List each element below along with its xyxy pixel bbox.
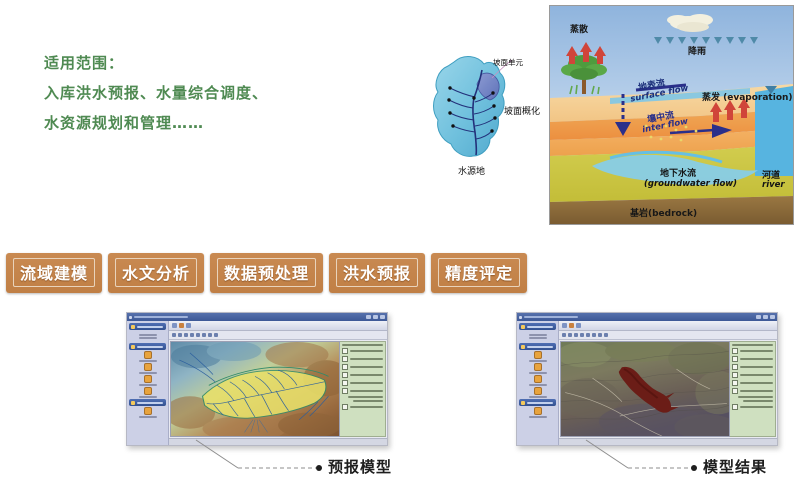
layer-label [350, 358, 383, 360]
legend-row[interactable] [342, 348, 383, 354]
group-icon [521, 345, 525, 349]
map-canvas-terrain[interactable] [170, 341, 340, 437]
sidebar-item[interactable] [129, 331, 166, 342]
item-label [529, 334, 547, 336]
module-button-hydrologic-analysis[interactable]: 水文分析 [108, 253, 204, 293]
window-title-text [134, 316, 188, 318]
legend-row[interactable] [732, 388, 773, 394]
tool-icon [144, 387, 152, 395]
layer-checkbox[interactable] [732, 364, 738, 370]
layer-checkbox[interactable] [342, 372, 348, 378]
terrain-map-svg [171, 342, 339, 436]
sidebar-item[interactable] [519, 387, 556, 398]
layer-checkbox[interactable] [342, 404, 348, 410]
legend-row[interactable] [732, 404, 773, 410]
item-label [139, 396, 157, 398]
tool-bar[interactable] [169, 331, 387, 340]
module-button-flood-forecast[interactable]: 洪水预报 [329, 253, 425, 293]
label-groundwater-flow-cn: 地下水流 [660, 166, 696, 179]
group-icon [131, 325, 135, 329]
label-evapotranspiration: 蒸散 [570, 22, 588, 35]
sidebar-group-header-1[interactable] [519, 323, 556, 330]
toolbar-icon[interactable] [580, 333, 584, 337]
legend-subrow[interactable] [732, 400, 773, 402]
legend-row[interactable] [342, 364, 383, 370]
menu-item[interactable] [562, 323, 567, 328]
module-button-accuracy-assessment[interactable]: 精度评定 [431, 253, 527, 293]
legend-row[interactable] [342, 380, 383, 386]
module-label: 数据预处理 [217, 258, 316, 287]
module-button-watershed-modeling[interactable]: 流域建模 [6, 253, 102, 293]
tool-icon [144, 407, 152, 415]
intro-line-2: 入库洪水预报、水量综合调度、 [44, 78, 374, 108]
legend-row[interactable] [342, 388, 383, 394]
sidebar-group-header-2[interactable] [129, 343, 166, 350]
window-body [127, 321, 387, 445]
layer-checkbox[interactable] [732, 372, 738, 378]
toolbar-icon[interactable] [178, 333, 182, 337]
toolbar-icon[interactable] [574, 333, 578, 337]
menu-item[interactable] [172, 323, 177, 328]
window-title-text [524, 316, 578, 318]
legend-row[interactable] [342, 356, 383, 362]
item-label [139, 372, 157, 374]
maximize-button[interactable] [373, 315, 378, 319]
sidebar-item[interactable] [519, 363, 556, 374]
legend-header [732, 344, 773, 346]
sidebar-group-header-3[interactable] [519, 399, 556, 406]
item-label [529, 384, 547, 386]
layer-label [740, 382, 773, 384]
sidebar-item[interactable] [519, 375, 556, 386]
tool-icon [534, 387, 542, 395]
layer-label [740, 350, 773, 352]
toolbar-icon[interactable] [196, 333, 200, 337]
legend-subrow[interactable] [342, 400, 383, 402]
slide-canvas: 适用范围： 入库洪水预报、水量综合调度、 水资源规划和管理…… [0, 0, 794, 499]
status-bar [559, 438, 777, 445]
label-slope-unit: 坡面单元 [493, 57, 523, 68]
window-body [517, 321, 777, 445]
layer-checkbox[interactable] [732, 404, 738, 410]
label-river-en: river [762, 180, 785, 190]
menu-item[interactable] [576, 323, 581, 328]
layer-label [740, 366, 773, 368]
group-label [527, 346, 553, 348]
window-title-bar [517, 313, 777, 321]
layer-label [740, 358, 773, 360]
toolbar-icon[interactable] [592, 333, 596, 337]
sidebar-filler [519, 419, 556, 445]
toolbar-icon[interactable] [562, 333, 566, 337]
label-slope-generalization: 坡面概化 [504, 104, 540, 117]
menu-bar[interactable] [169, 321, 387, 331]
toolbar-icon[interactable] [586, 333, 590, 337]
sidebar-group-header-3[interactable] [129, 399, 166, 406]
layer-label [350, 350, 383, 352]
layer-checkbox[interactable] [342, 380, 348, 386]
label-water-source: 水源地 [458, 164, 485, 177]
toolbar-icon[interactable] [190, 333, 194, 337]
label-rainfall: 降雨 [688, 44, 706, 57]
applicable-scope-text: 适用范围： 入库洪水预报、水量综合调度、 水资源规划和管理…… [44, 48, 374, 138]
tool-icon [144, 351, 152, 359]
toolbar-icon[interactable] [214, 333, 218, 337]
legend-row[interactable] [342, 404, 383, 410]
intro-line-3: 水资源规划和管理…… [44, 108, 374, 138]
module-button-data-preprocessing[interactable]: 数据预处理 [210, 253, 323, 293]
map-and-legend [559, 340, 777, 438]
legend-row[interactable] [732, 364, 773, 370]
layer-sublabel [738, 396, 773, 398]
sidebar-item[interactable] [129, 363, 166, 374]
sidebar-item[interactable] [129, 375, 166, 386]
screenshot-model-results[interactable] [516, 312, 778, 446]
menu-bar[interactable] [559, 321, 777, 331]
sidebar-item[interactable] [129, 407, 166, 418]
group-label [527, 402, 553, 404]
toolbar-icon[interactable] [598, 333, 602, 337]
item-label [139, 334, 157, 336]
sidebar-group-header-1[interactable] [129, 323, 166, 330]
layer-label [350, 374, 383, 376]
satellite-map-svg [561, 342, 729, 436]
item-label [529, 360, 547, 362]
minimize-button[interactable] [366, 315, 371, 319]
group-label [527, 326, 553, 328]
module-label: 流域建模 [13, 258, 95, 287]
app-icon [129, 316, 132, 319]
layer-legend-panel[interactable] [730, 341, 776, 437]
module-label: 精度评定 [438, 258, 520, 287]
layer-sublabel [348, 396, 383, 398]
tool-icon [534, 375, 542, 383]
menu-item[interactable] [569, 323, 574, 328]
sidebar-item[interactable] [129, 351, 166, 362]
item-label [139, 416, 157, 418]
group-icon [521, 401, 525, 405]
layer-checkbox[interactable] [342, 388, 348, 394]
caption-model-results: 模型结果 [703, 456, 767, 477]
group-icon [131, 345, 135, 349]
layer-label [740, 374, 773, 376]
layer-sublabel [743, 400, 773, 402]
rainfall-arrows [654, 37, 758, 44]
label-groundwater-flow-en: (groundwater flow) [644, 179, 737, 189]
layer-checkbox[interactable] [342, 364, 348, 370]
layer-label [350, 382, 383, 384]
main-area [169, 321, 387, 445]
item-sublabel [529, 337, 547, 339]
map-canvas-satellite[interactable] [560, 341, 730, 437]
status-bar [169, 438, 387, 445]
layer-label [350, 406, 383, 408]
legend-subrow[interactable] [732, 396, 773, 398]
legend-row[interactable] [732, 348, 773, 354]
module-label: 洪水预报 [336, 258, 418, 287]
item-label [139, 384, 157, 386]
group-label [137, 326, 163, 328]
minimize-button[interactable] [756, 315, 761, 319]
layer-label [350, 366, 383, 368]
layer-checkbox[interactable] [732, 388, 738, 394]
legend-subrow[interactable] [342, 396, 383, 398]
item-label [139, 360, 157, 362]
legend-row[interactable] [342, 372, 383, 378]
tool-bar[interactable] [559, 331, 777, 340]
tool-icon [144, 363, 152, 371]
group-label [137, 346, 163, 348]
tool-icon [534, 407, 542, 415]
legend-row[interactable] [732, 380, 773, 386]
app-icon [519, 316, 522, 319]
layer-checkbox[interactable] [342, 356, 348, 362]
label-evaporation: 蒸发 (evaporation) [702, 90, 793, 103]
layer-label [740, 390, 773, 392]
group-icon [521, 325, 525, 329]
layer-checkbox[interactable] [732, 380, 738, 386]
layer-sublabel [353, 400, 383, 402]
layer-legend-panel[interactable] [340, 341, 386, 437]
legend-header [342, 344, 383, 346]
watershed-schematic: 坡面单元 坡面概化 水源地 [420, 40, 550, 180]
intro-line-1: 适用范围： [44, 48, 374, 78]
maximize-button[interactable] [763, 315, 768, 319]
tool-icon [534, 363, 542, 371]
legend-header-text [732, 344, 773, 346]
item-label [529, 372, 547, 374]
group-label [137, 402, 163, 404]
tool-icon [534, 351, 542, 359]
item-label [529, 416, 547, 418]
toolbar-icon[interactable] [604, 333, 608, 337]
sidebar-item[interactable] [519, 351, 556, 362]
menu-item[interactable] [186, 323, 191, 328]
layer-checkbox[interactable] [732, 356, 738, 362]
toolbar-icon[interactable] [184, 333, 188, 337]
sidebar-panel[interactable] [517, 321, 559, 445]
main-area [559, 321, 777, 445]
sidebar-item[interactable] [519, 331, 556, 342]
close-button[interactable] [380, 315, 385, 319]
screenshot-forecast-model[interactable] [126, 312, 388, 446]
item-label [529, 396, 547, 398]
menu-item[interactable] [179, 323, 184, 328]
toolbar-icon[interactable] [202, 333, 206, 337]
module-label: 水文分析 [115, 258, 197, 287]
sidebar-filler [129, 419, 166, 445]
toolbar-icon[interactable] [208, 333, 212, 337]
close-button[interactable] [770, 315, 775, 319]
layer-checkbox[interactable] [342, 348, 348, 354]
group-icon [131, 401, 135, 405]
leader-dot-right [691, 465, 697, 471]
label-bedrock: 基岩(bedrock) [630, 206, 697, 219]
layer-checkbox[interactable] [732, 348, 738, 354]
layer-label [740, 406, 773, 408]
sidebar-panel[interactable] [127, 321, 169, 445]
module-button-bar: 流域建模 水文分析 数据预处理 洪水预报 精度评定 [6, 253, 527, 293]
sidebar-item[interactable] [519, 407, 556, 418]
legend-row[interactable] [732, 356, 773, 362]
sidebar-group-header-2[interactable] [519, 343, 556, 350]
leader-dot-left [316, 465, 322, 471]
tool-icon [144, 375, 152, 383]
caption-forecast-model: 预报模型 [328, 456, 392, 477]
item-sublabel [139, 337, 157, 339]
toolbar-icon[interactable] [172, 333, 176, 337]
window-title-bar [127, 313, 387, 321]
sidebar-item[interactable] [129, 387, 166, 398]
map-and-legend [169, 340, 387, 438]
layer-label [350, 390, 383, 392]
legend-header-text [342, 344, 383, 346]
toolbar-icon[interactable] [568, 333, 572, 337]
hydrologic-cycle-diagram: 蒸散 降雨 蒸发 (evaporation) 地表流 surface flow … [549, 5, 794, 225]
legend-row[interactable] [732, 372, 773, 378]
